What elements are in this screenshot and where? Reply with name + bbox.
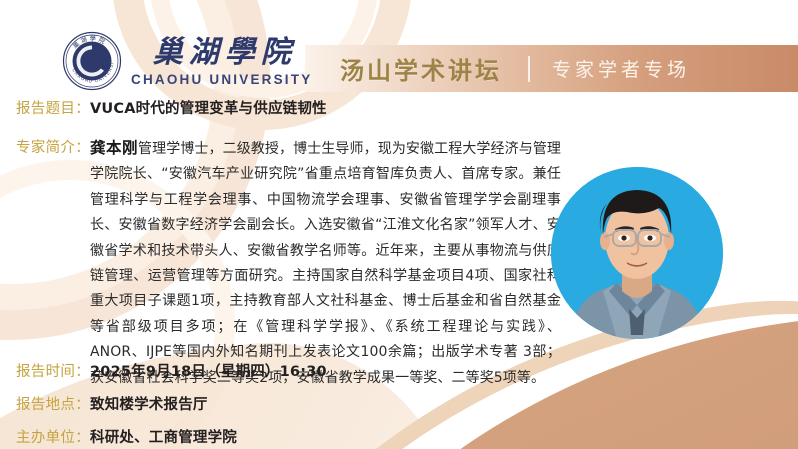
forum-banner-subtitle: 专家学者专场 bbox=[552, 55, 690, 82]
speaker-bio-text: 管理学博士，二级教授，博士生导师，现为安徽工程大学经济与管理学院院长、“安徽汽车… bbox=[90, 141, 561, 386]
report-title-row: 报告题目： VUCA时代的管理变革与供应链韧性 bbox=[16, 97, 327, 118]
speaker-bio-text-block: 龚本刚管理学博士，二级教授，博士生导师，现为安徽工程大学经济与管理学院院长、“安… bbox=[90, 136, 561, 391]
report-title-label: 报告题目： bbox=[16, 97, 90, 118]
speaker-portrait-photo bbox=[551, 167, 723, 339]
university-name-en: CHAOHU UNIVERSITY bbox=[131, 73, 312, 87]
speaker-bio-label: 专家简介： bbox=[16, 136, 90, 157]
report-place-value: 致知楼学术报告厅 bbox=[90, 393, 208, 414]
report-host-row: 主办单位： 科研处、工商管理学院 bbox=[16, 426, 237, 447]
report-title-value: VUCA时代的管理变革与供应链韧性 bbox=[90, 97, 327, 118]
report-place-row: 报告地点： 致知楼学术报告厅 bbox=[16, 393, 208, 414]
speaker-bio-row: 专家简介： 龚本刚管理学博士，二级教授，博士生导师，现为安徽工程大学经济与管理学… bbox=[16, 136, 561, 391]
report-place-label: 报告地点： bbox=[16, 393, 90, 414]
report-time-value: 2025年9月18日（星期四）16:30 bbox=[90, 360, 327, 381]
forum-banner-title: 汤山学术讲坛 bbox=[340, 51, 502, 86]
lecture-poster: 汤山学术讲坛 专家学者专场 巢湖學院 bbox=[0, 0, 798, 449]
report-host-label: 主办单位： bbox=[16, 426, 90, 447]
university-name-cn: 巢湖學院 bbox=[147, 38, 297, 68]
forum-banner: 汤山学术讲坛 专家学者专场 bbox=[305, 45, 798, 92]
university-seal-icon: 巢湖學院 CHAOHU UNIVERSITY bbox=[62, 31, 122, 91]
banner-divider bbox=[528, 56, 530, 82]
university-logo: 巢湖學院 CHAOHU UNIVERSITY 巢湖學院 CHAOHU UNIVE… bbox=[62, 31, 312, 91]
speaker-name: 龚本刚 bbox=[90, 139, 138, 157]
report-time-label: 报告时间： bbox=[16, 360, 90, 381]
report-time-row: 报告时间： 2025年9月18日（星期四）16:30 bbox=[16, 360, 327, 381]
report-host-value: 科研处、工商管理学院 bbox=[90, 426, 237, 447]
